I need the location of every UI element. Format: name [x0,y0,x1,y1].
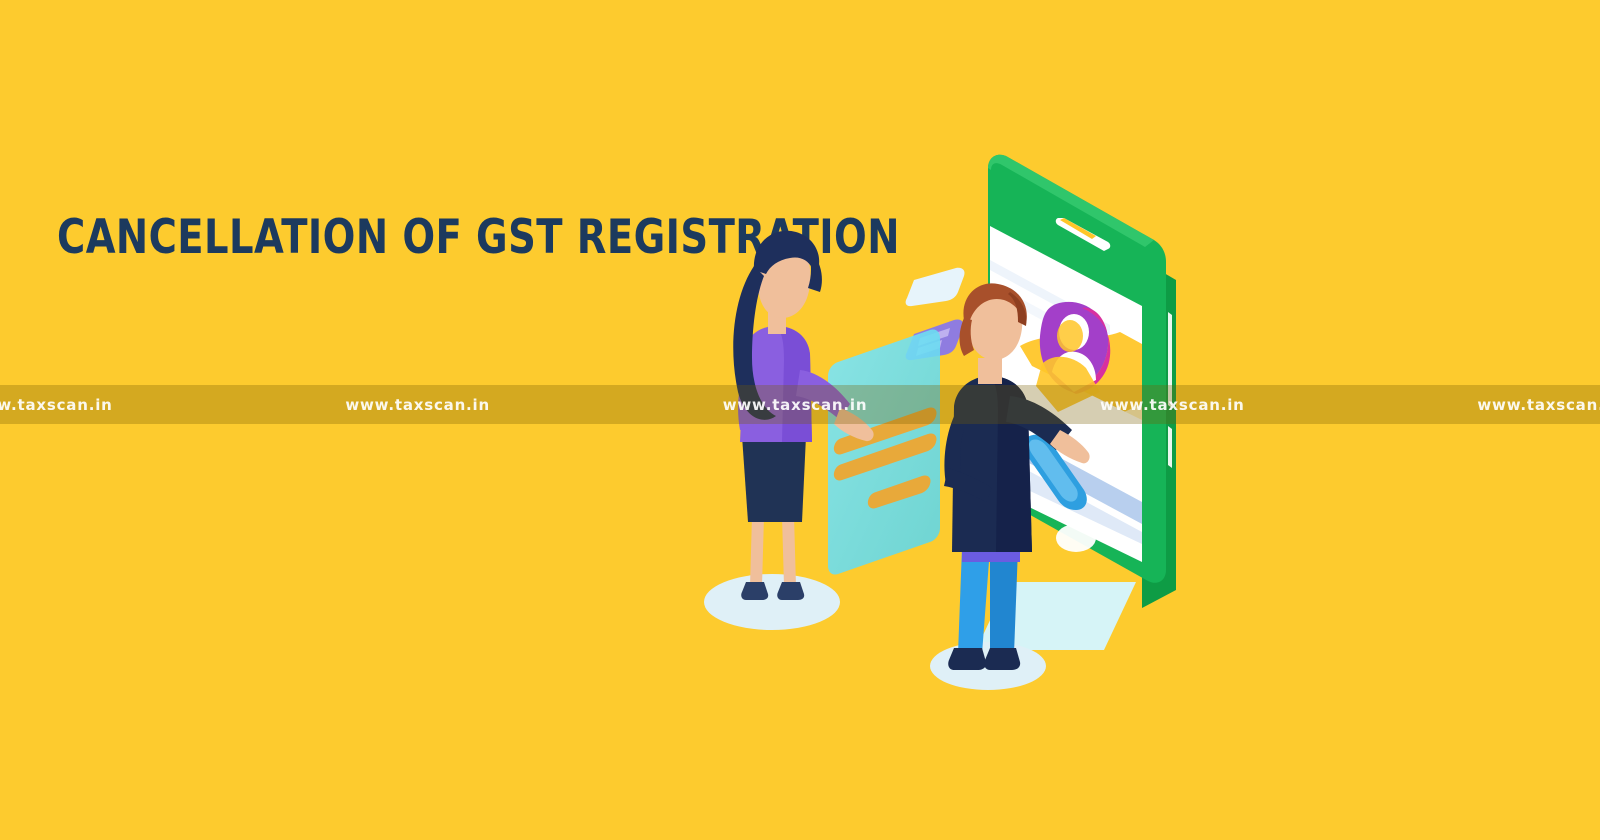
cyan-panel [828,329,940,574]
watermark-text: www.taxscan.in [1477,396,1600,414]
banner-root: CANCELLATION OF GST REGISTRATION [0,0,1600,840]
watermark-text: www.taxscan.in [0,396,113,414]
phone-side-buttons [1168,312,1172,468]
hero-illustration [690,120,1230,700]
watermark-text: www.taxscan.in [345,396,490,414]
